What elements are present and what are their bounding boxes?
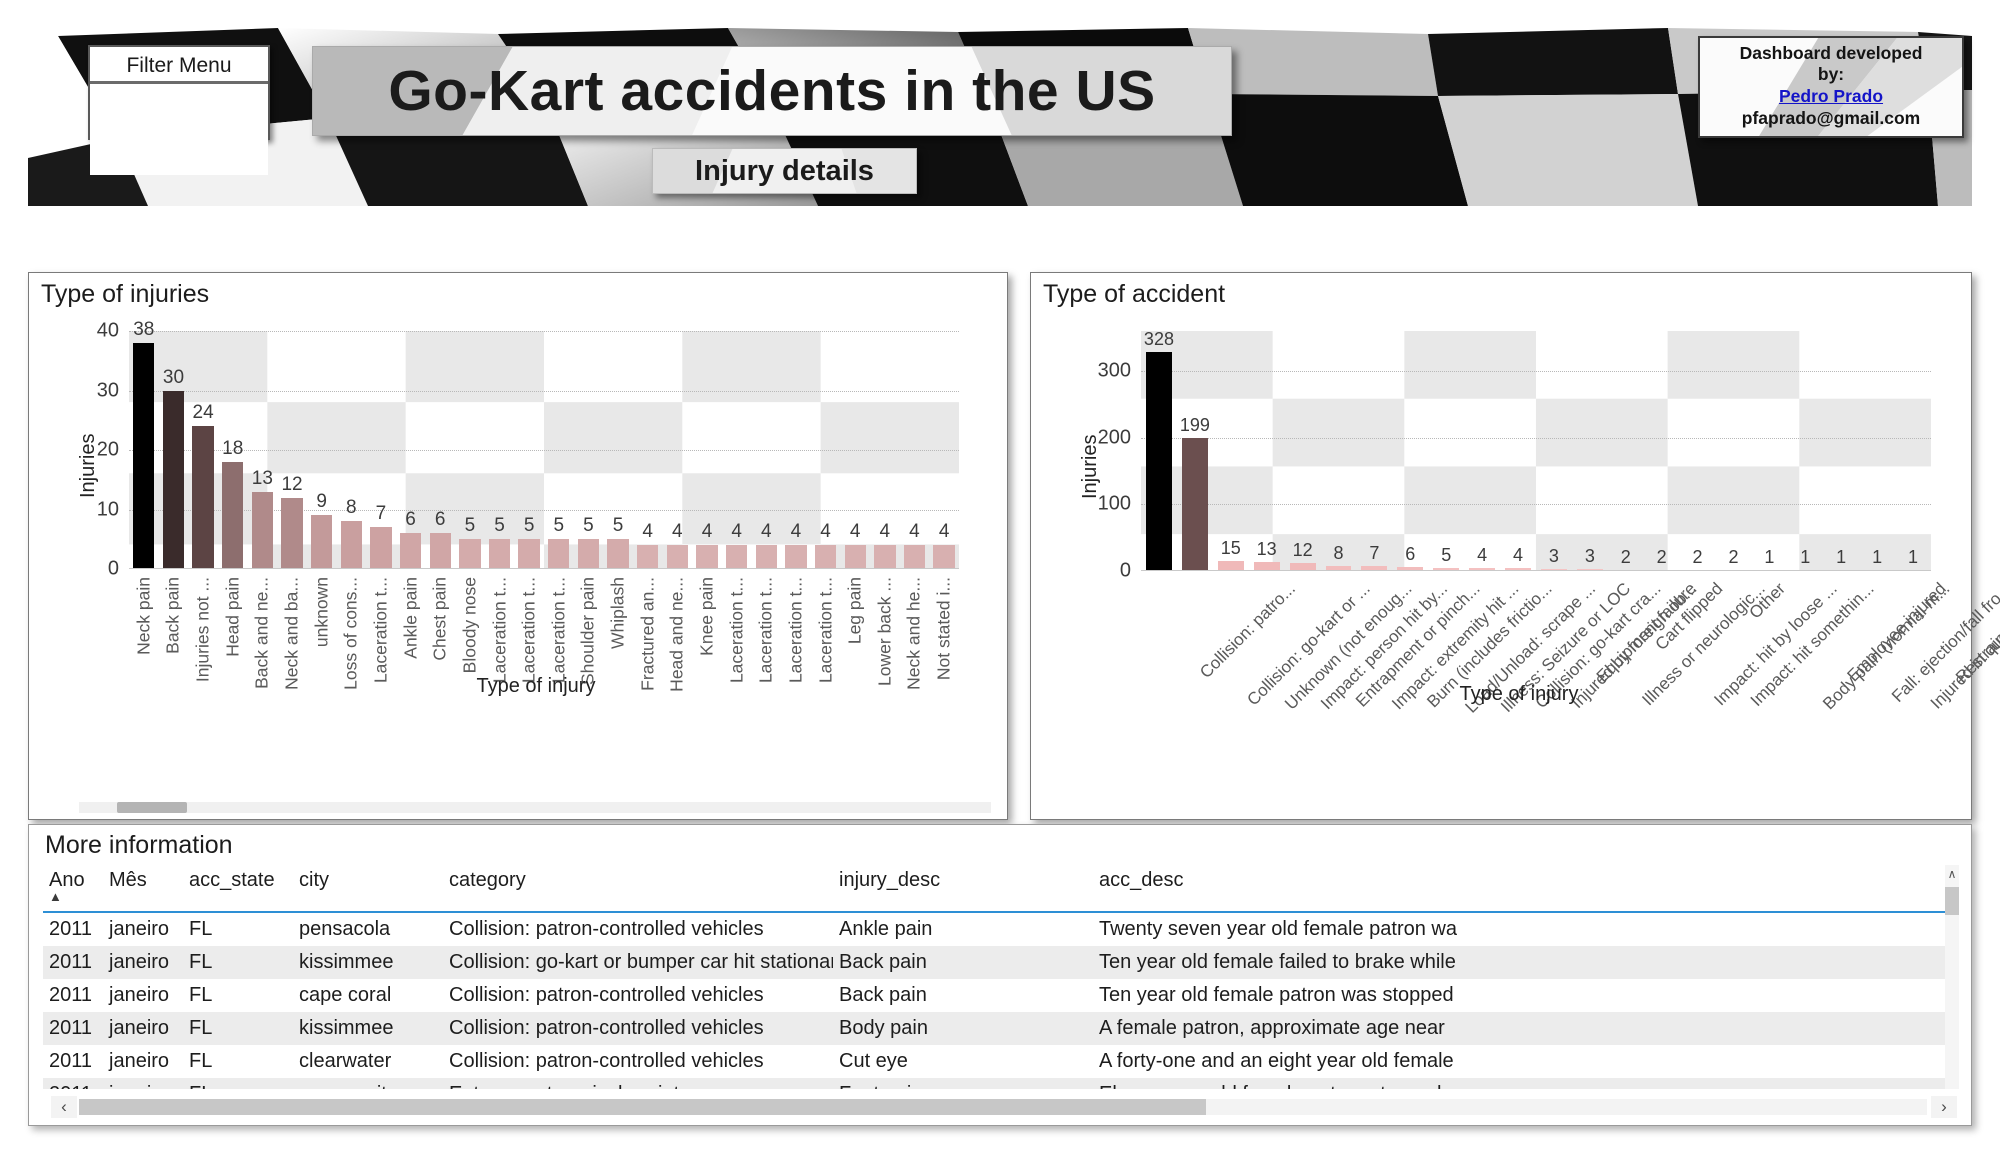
bar-value-label: 6	[405, 509, 416, 531]
bars-injuries[interactable]: 3830241813129876655555544444444444	[129, 331, 959, 569]
column-header-label: Ano	[49, 869, 85, 891]
bar-slot[interactable]: 5	[485, 331, 515, 569]
bar-value-label: 5	[613, 515, 624, 537]
bar-slot[interactable]: 3	[1572, 331, 1608, 571]
bar-value-label: 4	[672, 521, 683, 543]
bar-value-label: 199	[1180, 415, 1210, 436]
x-tick-label: Injuries not ...	[193, 577, 214, 682]
table-cell: Ten year old female patron was stopped	[1093, 979, 1959, 1012]
x-tick-label: Laceration t...	[489, 577, 510, 683]
bar[interactable]: 328	[1146, 352, 1172, 571]
bar-value-label: 8	[1333, 543, 1343, 564]
bar-value-label: 13	[1257, 539, 1277, 560]
x-tick-label: Back and ne...	[252, 577, 273, 689]
bar-slot[interactable]: 4	[1464, 331, 1500, 571]
bar[interactable]: 4	[933, 545, 954, 569]
table-column-header[interactable]: Mês	[103, 865, 183, 912]
table-cell: FL	[183, 1045, 293, 1078]
credits-box: Dashboard developed by: Pedro Prado pfap…	[1698, 36, 1964, 138]
bar-value-label: 4	[731, 521, 742, 543]
bar-value-label: 2	[1693, 547, 1703, 568]
table-cell: Body pain	[833, 1012, 1093, 1045]
bar[interactable]: 4	[904, 545, 925, 569]
bar-value-label: 4	[791, 521, 802, 543]
scroll-right-icon[interactable]: ›	[1931, 1096, 1957, 1118]
bar-value-label: 38	[133, 319, 154, 341]
bar-value-label: 7	[1369, 543, 1379, 564]
x-tick-label: Laceration t...	[548, 577, 569, 683]
x-tick-label: Whiplash	[608, 577, 629, 649]
table-title: More information	[45, 831, 233, 860]
bar-slot[interactable]: 30	[159, 331, 189, 569]
y-tick-label: 10	[77, 498, 119, 521]
x-tick-label: Laceration t...	[815, 577, 836, 683]
bar[interactable]: 4	[667, 545, 688, 569]
bar-slot[interactable]: 5	[1428, 331, 1464, 571]
developer-link[interactable]: Pedro Prado	[1706, 85, 1956, 108]
table-row[interactable]: 2011janeiroFLkissimmeeCollision: patron-…	[43, 1012, 1959, 1045]
bar-slot[interactable]: 12	[277, 331, 307, 569]
bar-value-label: 7	[376, 503, 387, 525]
bar-value-label: 1	[1872, 547, 1882, 568]
x-tick-label: Ankle pain	[400, 577, 421, 659]
table-cell: Ten year old female failed to brake whil…	[1093, 946, 1959, 979]
panel-type-of-accident: Type of accident Injuries 0100200300 328…	[1030, 272, 1972, 820]
table-cell: janeiro	[103, 1078, 183, 1089]
bar-slot[interactable]: 4	[722, 331, 752, 569]
table-scroll-region[interactable]: Ano▲Mêsacc_statecitycategoryinjury_desca…	[43, 865, 1959, 1089]
x-tick-label: Fractured an...	[637, 577, 658, 691]
y-tick-label: 100	[1079, 493, 1131, 516]
bar[interactable]: 13	[252, 492, 273, 569]
subtitle-box: Injury details	[652, 148, 917, 194]
bar-slot[interactable]: 5	[544, 331, 574, 569]
bar-slot[interactable]: 2	[1608, 331, 1644, 571]
bar-slot[interactable]: 1	[1895, 331, 1931, 571]
plot-area-accident: 32819915131287654433222211111	[1141, 331, 1931, 571]
x-tick-label: Chest pain	[430, 577, 451, 661]
chart-horizontal-scrollbar[interactable]	[79, 802, 991, 813]
bar-value-label: 3	[1585, 546, 1595, 567]
bar-slot[interactable]: 328	[1141, 331, 1177, 571]
bar-slot[interactable]: 4	[840, 331, 870, 569]
bars-accident[interactable]: 32819915131287654433222211111	[1141, 331, 1931, 571]
bar[interactable]: 24	[192, 426, 213, 569]
x-tick-label: unknown	[311, 577, 332, 647]
bar-slot[interactable]: 4	[811, 331, 841, 569]
y-tick-label: 0	[1079, 560, 1131, 583]
table-row[interactable]: 2011janeiroFLpensacolaCollision: patron-…	[43, 912, 1959, 946]
bar[interactable]: 4	[845, 545, 866, 569]
table-cell: FL	[183, 1078, 293, 1089]
bar-value-label: 5	[524, 515, 535, 537]
bar-value-label: 18	[222, 438, 243, 460]
table-row[interactable]: 2011janeiroFLkissimmeeCollision: go-kart…	[43, 946, 1959, 979]
bar-value-label: 4	[642, 521, 653, 543]
bar-value-label: 1	[1836, 547, 1846, 568]
x-axis-label-accident: Type of injury	[1079, 683, 1959, 706]
bar[interactable]: 38	[133, 343, 154, 569]
bar-value-label: 2	[1728, 547, 1738, 568]
table-cell: Collision: patron-controlled vehicles	[443, 912, 833, 946]
bar-slot[interactable]: 8	[336, 331, 366, 569]
table-cell: janeiro	[103, 979, 183, 1012]
bar-value-label: 5	[553, 515, 564, 537]
bar-value-label: 8	[346, 497, 357, 519]
table-cell: A forty-one and an eight year old female	[1093, 1045, 1959, 1078]
bar-value-label: 6	[1405, 544, 1415, 565]
table-cell: Back pain	[833, 979, 1093, 1012]
bar-value-label: 4	[702, 521, 713, 543]
bar-value-label: 4	[880, 521, 891, 543]
x-tick-label: Back pain	[163, 577, 184, 654]
developer-email: pfaprado@gmail.com	[1706, 108, 1956, 129]
table-cell: Collision: patron-controlled vehicles	[443, 1012, 833, 1045]
bar-slot[interactable]: 2	[1716, 331, 1752, 571]
bar-value-label: 1	[1800, 547, 1810, 568]
bar-slot[interactable]: 5	[514, 331, 544, 569]
y-tick-label: 20	[77, 439, 119, 462]
table-cell: janeiro	[103, 946, 183, 979]
table-cell: pensacola	[293, 912, 443, 946]
bar-slot[interactable]: 24	[188, 331, 218, 569]
table-cell: Collision: patron-controlled vehicles	[443, 1045, 833, 1078]
bar-value-label: 4	[850, 521, 861, 543]
bar-value-label: 4	[909, 521, 920, 543]
column-header-label: acc_state	[189, 869, 275, 891]
table-cell: Collision: patron-controlled vehicles	[443, 979, 833, 1012]
y-tick-label: 300	[1079, 360, 1131, 383]
x-tick-label: Laceration t...	[785, 577, 806, 683]
bar-slot[interactable]: 5	[603, 331, 633, 569]
table-cell: 2011	[43, 1078, 103, 1089]
bar-slot[interactable]: 5	[574, 331, 604, 569]
table-cell: 2011	[43, 1045, 103, 1078]
table-body: 2011janeiroFLpensacolaCollision: patron-…	[43, 912, 1959, 1089]
bar[interactable]: 4	[696, 545, 717, 569]
column-header-label: injury_desc	[839, 869, 940, 891]
table-cell: janeiro	[103, 1012, 183, 1045]
x-tick-label: Laceration t...	[370, 577, 391, 683]
table-cell: janeiro	[103, 912, 183, 946]
bar[interactable]: 5	[489, 539, 510, 569]
table-cell: kissimmee	[293, 1012, 443, 1045]
bar-value-label: 4	[761, 521, 772, 543]
bar-slot[interactable]: 18	[218, 331, 248, 569]
bar-value-label: 9	[316, 491, 327, 513]
bar-slot[interactable]: 5	[455, 331, 485, 569]
bar[interactable]: 4	[756, 545, 777, 569]
table-row[interactable]: 2011janeiroFLclearwaterCollision: patron…	[43, 1045, 1959, 1078]
bar-value-label: 3	[1549, 546, 1559, 567]
table-cell: 2011	[43, 946, 103, 979]
x-tick-label: Neck and ba...	[282, 577, 303, 690]
y-tick-label: 0	[77, 558, 119, 581]
table-column-header[interactable]: acc_state	[183, 865, 293, 912]
y-tick-label: 200	[1079, 426, 1131, 449]
x-tick-label: Shoulder pain	[578, 577, 599, 685]
x-tick-label: Lower back ...	[874, 577, 895, 686]
page-title: Go-Kart accidents in the US	[388, 58, 1155, 124]
bar-value-label: 13	[252, 468, 273, 490]
scrollbar-thumb[interactable]	[117, 802, 187, 813]
bar[interactable]: 5	[578, 539, 599, 569]
x-tick-label: Loss of cons...	[341, 577, 362, 690]
x-tick-label: Bloody nose	[459, 577, 480, 673]
bar[interactable]: 4	[874, 545, 895, 569]
bar-value-label: 24	[193, 402, 214, 424]
chart-accident[interactable]: Injuries 0100200300 32819915131287654433…	[1079, 323, 1959, 813]
panel-more-information: More information Ano▲Mêsacc_statecitycat…	[28, 824, 1972, 1126]
bar-value-label: 5	[465, 515, 476, 537]
bar[interactable]: 4	[785, 545, 806, 569]
column-header-label: category	[449, 869, 526, 891]
bar[interactable]: 4	[637, 545, 658, 569]
bar-slot[interactable]: 4	[781, 331, 811, 569]
bar[interactable]: 18	[222, 462, 243, 569]
bar[interactable]: 4	[726, 545, 747, 569]
x-tick-label: Not stated i...	[934, 577, 955, 680]
bar-slot[interactable]: 1	[1859, 331, 1895, 571]
bar-slot[interactable]: 1	[1823, 331, 1859, 571]
bar-value-label: 30	[163, 367, 184, 389]
bar[interactable]: 12	[281, 498, 302, 569]
bar-slot[interactable]: 15	[1213, 331, 1249, 571]
bar-slot[interactable]: 4	[870, 331, 900, 569]
table-cell: FL	[183, 912, 293, 946]
table-column-header[interactable]: injury_desc	[833, 865, 1093, 912]
bar-value-label: 4	[1477, 545, 1487, 566]
horizontal-scrollbar-thumb[interactable]	[79, 1099, 1206, 1115]
table-cell: A female patron, approximate age near	[1093, 1012, 1959, 1045]
table-cell: FL	[183, 979, 293, 1012]
bar[interactable]: 8	[341, 521, 362, 569]
x-axis-line-injuries	[129, 568, 959, 569]
bar-slot[interactable]: 13	[248, 331, 278, 569]
bar-value-label: 2	[1621, 547, 1631, 568]
table-cell: FL	[183, 946, 293, 979]
bar[interactable]: 9	[311, 515, 332, 569]
table-horizontal-scrollbar[interactable]	[79, 1099, 1927, 1115]
bar-value-label: 5	[494, 515, 505, 537]
table-cell: Collision: go-kart or bumper car hit sta…	[443, 946, 833, 979]
table-row[interactable]: 2011janeiroFLorange cityEntrapment or pi…	[43, 1078, 1959, 1089]
bar[interactable]: 30	[163, 391, 184, 570]
plot-area-injuries: 3830241813129876655555544444444444	[129, 331, 959, 569]
bar-value-label: 5	[1441, 545, 1451, 566]
chart-title-accident: Type of accident	[1043, 280, 1225, 309]
bar-slot[interactable]: 6	[425, 331, 455, 569]
bar-value-label: 1	[1764, 547, 1774, 568]
sort-ascending-icon: ▲	[49, 892, 97, 901]
table-cell: Eleven year old female patron stepped o	[1093, 1078, 1959, 1089]
bar-slot[interactable]: 2	[1644, 331, 1680, 571]
bar-value-label: 6	[435, 509, 446, 531]
column-header-label: city	[299, 869, 329, 891]
column-header-label: acc_desc	[1099, 869, 1184, 891]
filter-menu-body[interactable]	[90, 84, 268, 175]
y-tick-label: 40	[77, 320, 119, 343]
credits-line-1: Dashboard developed	[1706, 43, 1956, 64]
bar-slot[interactable]: 1	[1751, 331, 1787, 571]
table-cell: Foot pain	[833, 1078, 1093, 1089]
table-cell: clearwater	[293, 1045, 443, 1078]
table-cell: Ankle pain	[833, 912, 1093, 946]
bar-value-label: 4	[820, 521, 831, 543]
bar-slot[interactable]: 4	[929, 331, 959, 569]
bar[interactable]: 7	[370, 527, 391, 569]
bar[interactable]: 5	[459, 539, 480, 569]
bar-slot[interactable]: 12	[1285, 331, 1321, 571]
x-tick-label: Neck and he...	[904, 577, 925, 690]
bar[interactable]: 5	[518, 539, 539, 569]
table-column-header[interactable]: acc_desc	[1093, 865, 1959, 912]
scroll-up-icon[interactable]: ∧	[1945, 867, 1959, 881]
bar-slot[interactable]: 38	[129, 331, 159, 569]
table-cell: Cut eye	[833, 1045, 1093, 1078]
column-header-label: Mês	[109, 869, 147, 891]
bar[interactable]: 199	[1182, 438, 1208, 571]
bar-slot[interactable]: 4	[1500, 331, 1536, 571]
table-cell: orange city	[293, 1078, 443, 1089]
table-cell: Back pain	[833, 946, 1093, 979]
table-cell: 2011	[43, 912, 103, 946]
bar-slot[interactable]: 8	[1321, 331, 1357, 571]
scroll-left-icon[interactable]: ‹	[51, 1096, 77, 1118]
bar-slot[interactable]: 4	[692, 331, 722, 569]
table-cell: Entrapment or pinch-point	[443, 1078, 833, 1089]
table-cell: janeiro	[103, 1045, 183, 1078]
bar-value-label: 4	[1513, 545, 1523, 566]
bar-slot[interactable]: 4	[751, 331, 781, 569]
table-vertical-scrollbar[interactable]: ∧	[1945, 865, 1959, 1089]
filter-menu-panel[interactable]: Filter Menu	[88, 45, 270, 140]
table-row[interactable]: 2011janeiroFLcape coralCollision: patron…	[43, 979, 1959, 1012]
bar-slot[interactable]: 4	[900, 331, 930, 569]
data-table: Ano▲Mêsacc_statecitycategoryinjury_desca…	[43, 865, 1959, 1089]
chart-injuries[interactable]: Injuries 010203040 383024181312987665555…	[77, 323, 995, 811]
bar-value-label: 12	[281, 474, 302, 496]
bar-slot[interactable]: 4	[663, 331, 693, 569]
vertical-scrollbar-thumb[interactable]	[1945, 887, 1959, 915]
table-column-header[interactable]: category	[443, 865, 833, 912]
bar-slot[interactable]: 7	[1356, 331, 1392, 571]
bar-value-label: 328	[1144, 329, 1174, 350]
table-cell: 2011	[43, 1012, 103, 1045]
x-tick-label: Neck pain	[133, 577, 154, 655]
x-tick-label: Knee pain	[696, 577, 717, 656]
x-axis-line-accident	[1141, 570, 1931, 571]
panel-type-of-injuries: Type of injuries Injuries 010203040 3830…	[28, 272, 1008, 820]
bar-slot[interactable]: 13	[1249, 331, 1285, 571]
bar[interactable]: 4	[815, 545, 836, 569]
y-tick-label: 30	[77, 379, 119, 402]
table-cell: kissimmee	[293, 946, 443, 979]
x-tick-label: Laceration t...	[519, 577, 540, 683]
bar-value-label: 5	[583, 515, 594, 537]
bar-value-label: 15	[1221, 538, 1241, 559]
bar-slot[interactable]: 6	[396, 331, 426, 569]
bar-slot[interactable]: 2	[1680, 331, 1716, 571]
bar-value-label: 1	[1908, 547, 1918, 568]
x-tick-label: Laceration t...	[726, 577, 747, 683]
x-tick-label: Laceration t...	[756, 577, 777, 683]
credits-line-2: by:	[1706, 64, 1956, 85]
table-column-header[interactable]: Ano▲	[43, 865, 103, 912]
bar[interactable]: 6	[430, 533, 451, 569]
x-tick-label: Head pain	[222, 577, 243, 657]
bar-value-label: 2	[1657, 547, 1667, 568]
table-cell: 2011	[43, 979, 103, 1012]
bar-slot[interactable]: 9	[307, 331, 337, 569]
bar[interactable]: 5	[607, 539, 628, 569]
bar-slot[interactable]: 6	[1392, 331, 1428, 571]
table-column-header[interactable]: city	[293, 865, 443, 912]
table-cell: FL	[183, 1012, 293, 1045]
x-axis-label-injuries: Type of injury	[77, 675, 995, 698]
bar-slot[interactable]: 7	[366, 331, 396, 569]
bar[interactable]: 5	[548, 539, 569, 569]
table-header-row: Ano▲Mêsacc_statecitycategoryinjury_desca…	[43, 865, 1959, 912]
x-tick-label: Leg pain	[845, 577, 866, 644]
page-subtitle: Injury details	[695, 155, 874, 188]
bar-slot[interactable]: 1	[1787, 331, 1823, 571]
dashboard-title-box: Go-Kart accidents in the US	[312, 46, 1232, 136]
chart-title-injuries: Type of injuries	[41, 280, 209, 309]
bar-slot[interactable]: 3	[1536, 331, 1572, 571]
bar-slot[interactable]: 4	[633, 331, 663, 569]
bar-slot[interactable]: 199	[1177, 331, 1213, 571]
bar[interactable]: 6	[400, 533, 421, 569]
bar-value-label: 4	[939, 521, 950, 543]
filter-menu-title: Filter Menu	[90, 47, 268, 84]
table-cell: cape coral	[293, 979, 443, 1012]
table-cell: Twenty seven year old female patron wa	[1093, 912, 1959, 946]
bar-value-label: 12	[1293, 540, 1313, 561]
